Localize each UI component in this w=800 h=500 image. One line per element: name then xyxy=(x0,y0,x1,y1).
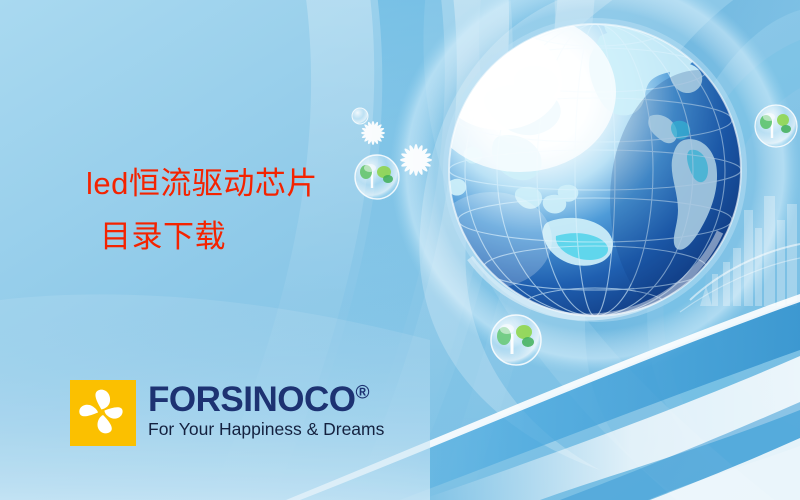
bubble-eco-right xyxy=(755,105,797,147)
headline-line-1-latin: led xyxy=(86,166,129,201)
headline-line-2: 目录下载 xyxy=(100,219,318,256)
earth-globe-graphic xyxy=(424,10,790,330)
city-light-streaks xyxy=(680,244,800,312)
bubble-eco-center xyxy=(491,315,541,365)
sparkle-star-lower xyxy=(400,144,432,176)
forsinoco-logo[interactable]: FORSINOCO® For Your Happiness & Dreams xyxy=(70,380,384,446)
logo-tagline: For Your Happiness & Dreams xyxy=(148,420,384,439)
registered-trademark-icon: ® xyxy=(355,382,369,403)
bubble-small-top xyxy=(352,108,368,124)
right-arc-ribbons xyxy=(423,0,800,500)
banner-canvas: led恒流驱动芯片 目录下载 FORSINOCO® For Your Happi… xyxy=(0,0,800,500)
headline-line-1-cjk: 恒流驱动芯片 xyxy=(129,166,318,201)
sparkle-star-upper xyxy=(361,121,385,145)
logo-wordmark: FORSINOCO® xyxy=(148,382,384,417)
logo-text-block: FORSINOCO® For Your Happiness & Dreams xyxy=(148,380,384,439)
pinwheel-icon xyxy=(70,380,136,446)
logo-wordmark-text: FORSINOCO xyxy=(148,380,355,419)
forsinoco-pinwheel-mark xyxy=(70,380,136,446)
city-skyline-silhouette xyxy=(700,196,797,306)
headline-line-1: led恒流驱动芯片 xyxy=(86,166,318,203)
bubble-eco-left xyxy=(355,155,399,199)
headline-block: led恒流驱动芯片 目录下载 xyxy=(86,166,318,255)
